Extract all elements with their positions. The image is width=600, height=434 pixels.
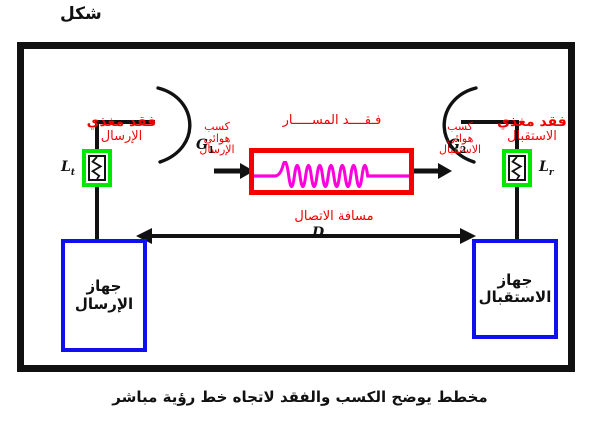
attenuator-rx-symbol: L — [539, 159, 549, 175]
gain-tx-symbol-subscript: 1 — [208, 146, 214, 156]
resistor-zigzag-icon — [506, 153, 528, 183]
gain-tx-note: كسب هوائي الإرسال — [182, 121, 252, 156]
link-distance-label: مسافة الاتصال — [259, 209, 409, 224]
feeder-loss-tx-line1: فقد مغذي — [64, 115, 179, 130]
arrow-tx-to-path — [214, 161, 254, 181]
attenuator-tx-subscript: t — [71, 168, 75, 178]
device-transmitter-line2: الإرسال — [75, 296, 133, 313]
resistor-zigzag-icon — [86, 153, 108, 183]
diagram-frame: Lt Lr — [17, 42, 575, 372]
path-loss-box — [249, 148, 414, 195]
device-receiver-text: جهاز الاستقبال — [479, 272, 552, 307]
gain-tx-line1: كسب — [182, 121, 252, 133]
feeder-loss-tx-line2: الإرسال — [64, 130, 179, 144]
diagram-canvas: Lt Lr — [24, 49, 568, 365]
path-loss-label: فـقــــد المســـــار — [257, 113, 407, 128]
gain-rx-symbol-subscript: 2 — [460, 146, 466, 156]
attenuator-rx-subscript: r — [549, 168, 554, 178]
gain-tx-symbol: G1 — [196, 137, 214, 156]
figure-caption: مخطط يوضح الكسب والفقد لاتجاه خط رؤية مب… — [0, 388, 600, 406]
feeder-loss-tx-note: فقد مغذي الإرسال — [64, 115, 179, 143]
device-receiver: جهاز الاستقبال — [472, 239, 558, 339]
attenuator-rx — [502, 149, 532, 187]
wire-tx-vertical-lower — [95, 187, 99, 240]
attenuator-tx — [82, 149, 112, 187]
gain-rx-symbol-letter: G — [448, 137, 460, 153]
device-transmitter: جهاز الإرسال — [61, 239, 147, 352]
attenuator-tx-label: Lt — [61, 159, 75, 178]
attenuator-rx-label: Lr — [539, 159, 554, 178]
attenuator-tx-symbol: L — [61, 159, 71, 175]
gain-rx-symbol: G2 — [448, 137, 466, 156]
gain-tx-line3: الإرسال — [182, 144, 252, 156]
device-receiver-line2: الاستقبال — [479, 289, 552, 306]
device-receiver-line1: جهاز — [479, 272, 552, 289]
gain-rx-line1: كسب — [424, 121, 496, 133]
link-distance-arrow — [136, 227, 476, 245]
sine-wave-icon — [254, 161, 409, 191]
figure-label: شكل — [60, 4, 102, 24]
wire-rx-vertical-lower — [515, 187, 519, 240]
device-transmitter-line1: جهاز — [75, 278, 133, 295]
device-transmitter-text: جهاز الإرسال — [75, 278, 133, 313]
arrow-path-to-rx — [412, 161, 452, 181]
gain-tx-symbol-letter: G — [196, 137, 208, 153]
